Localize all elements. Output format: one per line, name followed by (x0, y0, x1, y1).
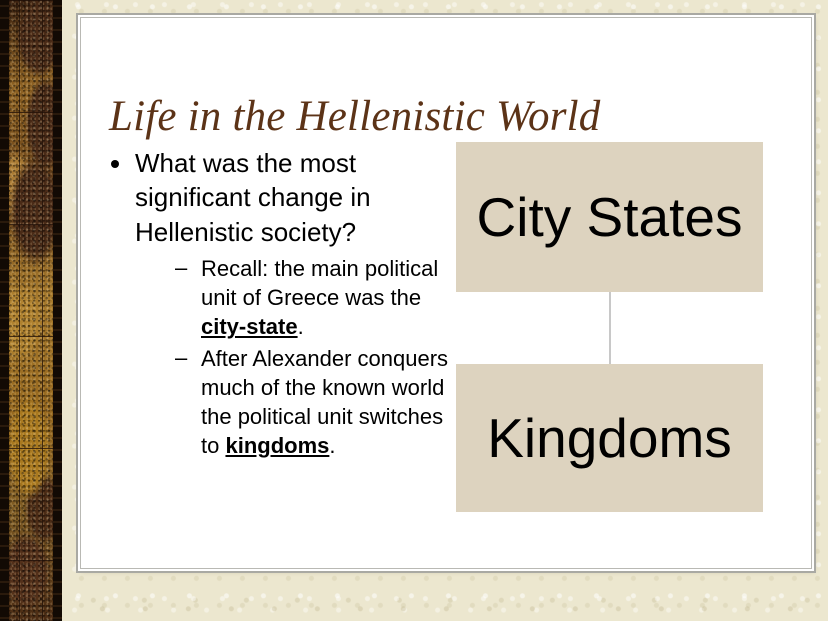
bullet-list-level-1: What was the most significant change in … (99, 146, 457, 461)
bullet-dot-icon (111, 160, 119, 168)
slide-content-frame: Life in the Hellenistic World What was t… (80, 17, 812, 569)
sub-bullet-item-recall: – Recall: the main political unit of Gre… (169, 254, 457, 342)
sub-bullet-item-alexander: – After Alexander conquers much of the k… (169, 344, 457, 461)
mosaic-texture (8, 0, 54, 621)
diagram-node-city-states: City States (456, 142, 763, 292)
diagram-connector-line (609, 292, 611, 364)
mosaic-border-strip (0, 0, 62, 621)
bullet-item-primary: What was the most significant change in … (99, 146, 457, 461)
presentation-slide: Life in the Hellenistic World What was t… (0, 0, 828, 621)
diagram-node-kingdoms: Kingdoms (456, 364, 763, 512)
emphasis-kingdoms: kingdoms (225, 433, 329, 458)
bullet-text-primary: What was the most significant change in … (135, 146, 457, 249)
sub-bullet-text-tail: . (329, 433, 335, 458)
diagram-node-label: City States (477, 190, 743, 245)
sub-bullet-group: – Recall: the main political unit of Gre… (169, 254, 457, 461)
slide-body-text: What was the most significant change in … (99, 146, 457, 465)
mosaic-grid-overlay (8, 0, 54, 621)
slide-title: Life in the Hellenistic World (109, 94, 769, 139)
en-dash-icon: – (175, 343, 187, 372)
flow-diagram: City States Kingdoms (456, 142, 776, 542)
mosaic-edge-right (53, 0, 62, 621)
mosaic-edge-left (0, 0, 9, 621)
emphasis-city-state: city-state (201, 314, 298, 339)
diagram-node-label: Kingdoms (487, 411, 732, 466)
en-dash-icon: – (175, 253, 187, 282)
sub-bullet-text-lead: Recall: the main political unit of Greec… (201, 256, 438, 310)
sub-bullet-text-tail: . (298, 314, 304, 339)
bullet-list-level-2: – Recall: the main political unit of Gre… (169, 254, 457, 461)
